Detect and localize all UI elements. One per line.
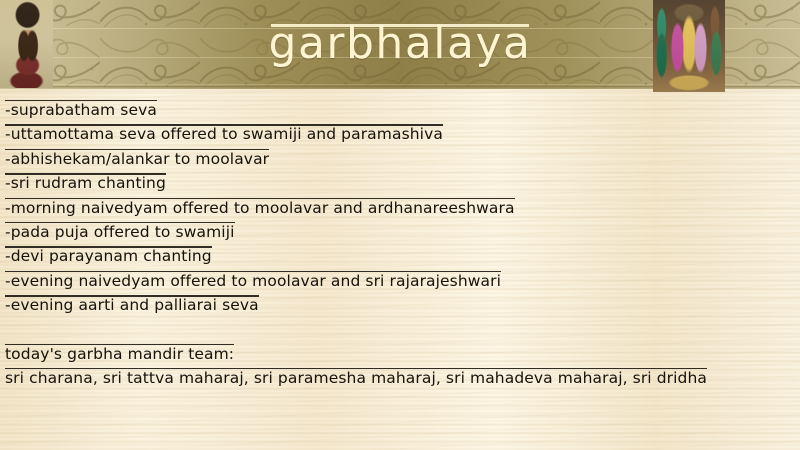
seva-list-item: -pada puja offered to swamiji <box>5 220 795 244</box>
seva-list-item: -evening aarti and palliarai seva <box>5 293 795 317</box>
seva-list-item-text: -pada puja offered to swamiji <box>5 220 235 244</box>
presentation-slide: garbhalaya -suprabatham seva -uttamottam… <box>0 0 800 450</box>
seva-list-item: -sri rudram chanting <box>5 171 795 195</box>
seva-list-item: -abhishekam/alankar to moolavar <box>5 147 795 171</box>
seva-list-item-text: -evening aarti and palliarai seva <box>5 293 259 317</box>
seva-list-item-text: -uttamottama seva offered to swamiji and… <box>5 122 443 146</box>
team-members: sri charana, sri tattva maharaj, sri par… <box>5 366 795 390</box>
seva-list-item: -suprabatham seva <box>5 98 795 122</box>
slide-body: -suprabatham seva -uttamottama seva offe… <box>5 98 795 390</box>
body-spacer <box>5 318 795 342</box>
slide-title-text: garbhalaya <box>269 17 532 71</box>
seva-list-item: -evening naivedyam offered to moolavar a… <box>5 269 795 293</box>
seva-list-item-text: -morning naivedyam offered to moolavar a… <box>5 196 515 220</box>
seva-list-item-text: -evening naivedyam offered to moolavar a… <box>5 269 501 293</box>
seva-list-item: -uttamottama seva offered to swamiji and… <box>5 122 795 146</box>
seva-list-item-text: -abhishekam/alankar to moolavar <box>5 147 269 171</box>
team-heading: today's garbha mandir team: <box>5 342 795 366</box>
slide-title: garbhalaya <box>0 17 800 71</box>
team-members-text: sri charana, sri tattva maharaj, sri par… <box>5 366 707 390</box>
team-heading-text: today's garbha mandir team: <box>5 342 234 366</box>
seva-list-item-text: -suprabatham seva <box>5 98 157 122</box>
seva-list-item-text: -devi parayanam chanting <box>5 244 212 268</box>
seva-list-item: -devi parayanam chanting <box>5 244 795 268</box>
seva-list-item-text: -sri rudram chanting <box>5 171 166 195</box>
seva-list-item: -morning naivedyam offered to moolavar a… <box>5 196 795 220</box>
